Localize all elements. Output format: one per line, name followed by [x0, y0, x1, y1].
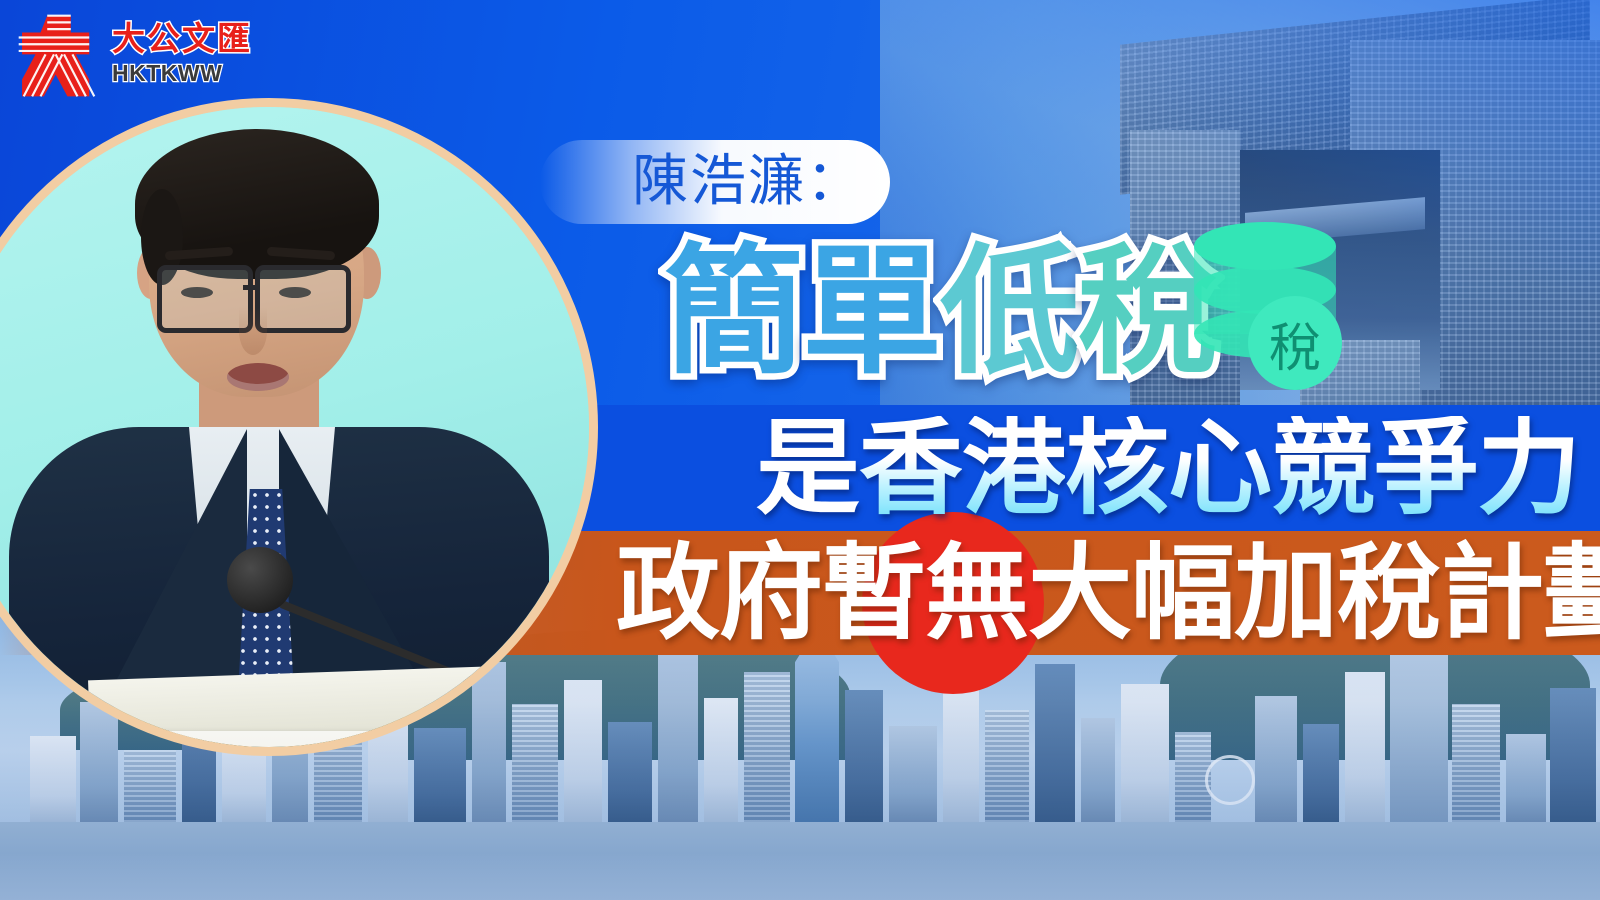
headline-line1-char: 單 [802, 243, 940, 383]
headline-line2-plain: 是 [756, 416, 859, 520]
headline-line2-char: 核 [1065, 416, 1168, 520]
paper-sticky-tab [75, 705, 105, 727]
headline-line2-char: 心 [1168, 416, 1271, 520]
logo-cn-text: 大公文匯 [112, 16, 262, 64]
coin-stack-tax-icon: 稅 [1186, 222, 1346, 390]
headline-line2-char: 力 [1477, 416, 1580, 520]
hktkww-cross-mark-icon [16, 14, 102, 98]
coin-disc [1194, 222, 1336, 270]
headline-line3-char: 計 [1440, 541, 1543, 645]
speaker-name-label: 陳浩濂： [632, 154, 864, 210]
headline-line3-char: 幅 [1131, 541, 1234, 645]
headline-line1-char: 簡 [664, 243, 802, 383]
headline-line-2: 是 香 港 核 心 競 爭 力 [756, 404, 1580, 532]
headline-line-1: 簡 單 低 稅 [664, 228, 1216, 398]
logo-en-text: HKTKWW [112, 60, 264, 87]
headline-line2-char: 爭 [1374, 416, 1477, 520]
headline-line-3: 政 府 暫 無 大 幅 加 稅 計 劃 [616, 530, 1600, 656]
headline-line2-char: 香 [859, 416, 962, 520]
speaker-portrait: 陳浩濂 財經事務及庫務局副局長 Mr Joseph Chan Under Sec… [0, 98, 598, 756]
headline-line2-char: 競 [1271, 416, 1374, 520]
speaker-name-pill: 陳浩濂： [540, 140, 890, 224]
headline-line2-char: 港 [962, 416, 1065, 520]
headline-line3-char: 劃 [1543, 541, 1600, 645]
poster-canvas: 陳浩濂 財經事務及庫務局副局長 Mr Joseph Chan Under Sec… [0, 0, 1600, 900]
portrait-mouth [227, 363, 289, 391]
headline-line3-char: 加 [1234, 541, 1337, 645]
headline-line1-char: 低 [940, 243, 1078, 383]
site-logo[interactable]: 大公文匯 HKTKWW [16, 10, 266, 102]
portrait-eyeglass-right [255, 265, 351, 333]
headline-line3-char: 稅 [1337, 541, 1440, 645]
tax-token: 稅 [1248, 296, 1342, 390]
headline-line3-highlight-char: 無 [925, 541, 1028, 645]
portrait-eyeglass-bridge [243, 285, 259, 290]
headline-line3-highlight-char: 暫 [822, 541, 925, 645]
headline-line3-char: 府 [719, 541, 822, 645]
microphone-icon [227, 547, 293, 613]
tax-token-label: 稅 [1269, 306, 1321, 381]
portrait-nose [239, 307, 267, 355]
headline-line3-char: 政 [616, 541, 719, 645]
headline-line3-char: 大 [1028, 541, 1131, 645]
logo-wordmark: 大公文匯 HKTKWW [112, 16, 262, 96]
